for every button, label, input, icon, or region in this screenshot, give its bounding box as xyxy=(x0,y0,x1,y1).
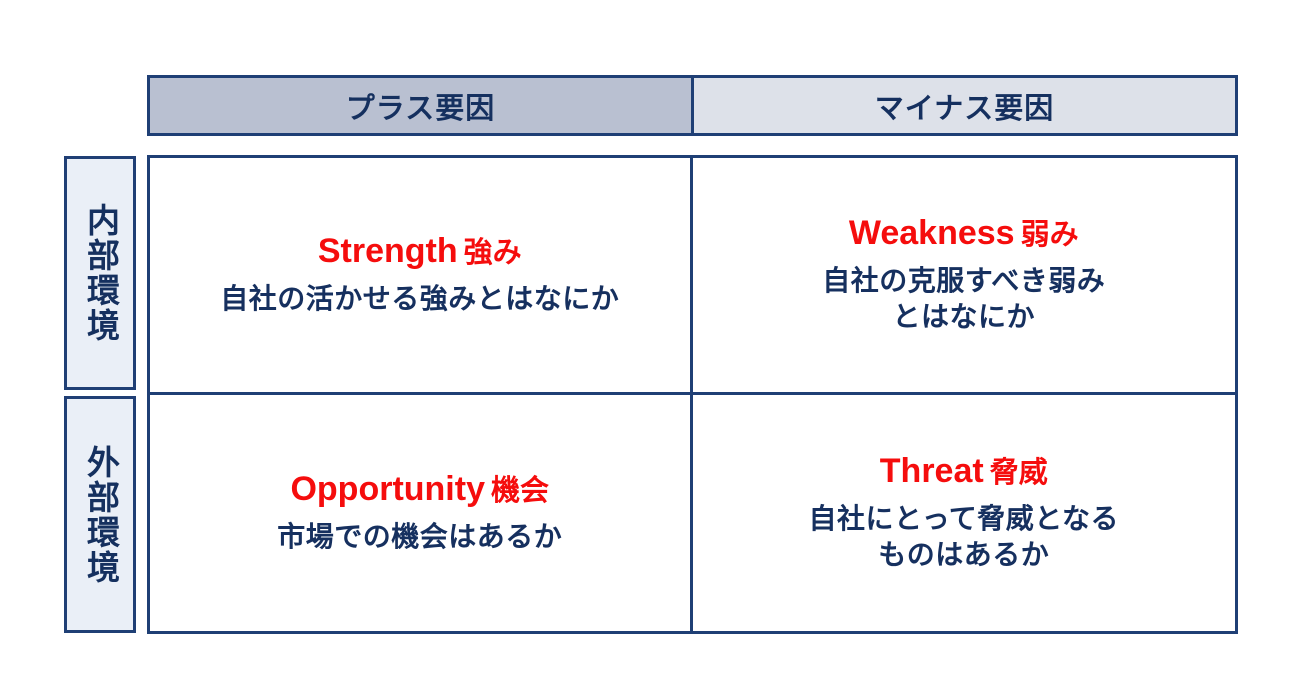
column-header-minus-label: マイナス要因 xyxy=(875,85,1054,127)
column-header-plus: プラス要因 xyxy=(150,78,694,133)
quadrant-weakness-description: 自社の克服すべき弱み とはなにか xyxy=(822,263,1105,335)
row-header-external-label: 外部環境 xyxy=(82,445,119,585)
quadrant-opportunity-title: Opportunity機会 xyxy=(290,470,549,509)
quadrant-strength: Strength強み 自社の活かせる強みとはなにか xyxy=(150,158,693,395)
quadrant-opportunity: Opportunity機会 市場での機会はあるか xyxy=(150,395,693,632)
quadrant-threat: Threat脅威 自社にとって脅威となる ものはあるか xyxy=(693,395,1236,632)
column-header-minus: マイナス要因 xyxy=(694,78,1235,133)
quadrant-opportunity-description: 市場での機会はあるか xyxy=(277,519,562,555)
quadrant-strength-title-jp: 強み xyxy=(464,237,522,269)
quadrant-threat-description: 自社にとって脅威となる ものはあるか xyxy=(809,501,1119,573)
swot-quadrant-grid: Strength強み 自社の活かせる強みとはなにか Weakness弱み 自社の… xyxy=(147,155,1238,634)
quadrant-opportunity-title-en: Opportunity xyxy=(290,470,485,508)
row-header-internal: 内部環境 xyxy=(64,156,136,390)
row-header-internal-label: 内部環境 xyxy=(82,203,119,343)
quadrant-weakness: Weakness弱み 自社の克服すべき弱み とはなにか xyxy=(693,158,1236,395)
quadrant-weakness-title-jp: 弱み xyxy=(1021,219,1079,251)
quadrant-weakness-title-en: Weakness xyxy=(849,214,1015,252)
quadrant-threat-title: Threat脅威 xyxy=(880,452,1048,491)
quadrant-threat-title-en: Threat xyxy=(880,452,984,490)
quadrant-threat-title-jp: 脅威 xyxy=(990,457,1048,489)
quadrant-weakness-title: Weakness弱み xyxy=(849,214,1079,253)
column-header-plus-label: プラス要因 xyxy=(346,85,495,127)
quadrant-strength-title-en: Strength xyxy=(318,232,458,270)
swot-matrix-diagram: プラス要因 マイナス要因 内部環境 外部環境 Strength強み 自社の活かせ… xyxy=(0,0,1300,698)
column-header-strip: プラス要因 マイナス要因 xyxy=(147,75,1238,136)
quadrant-opportunity-title-jp: 機会 xyxy=(491,475,549,507)
row-header-external: 外部環境 xyxy=(64,396,136,633)
quadrant-strength-description: 自社の活かせる強みとはなにか xyxy=(220,281,619,317)
quadrant-strength-title: Strength強み xyxy=(318,232,522,271)
